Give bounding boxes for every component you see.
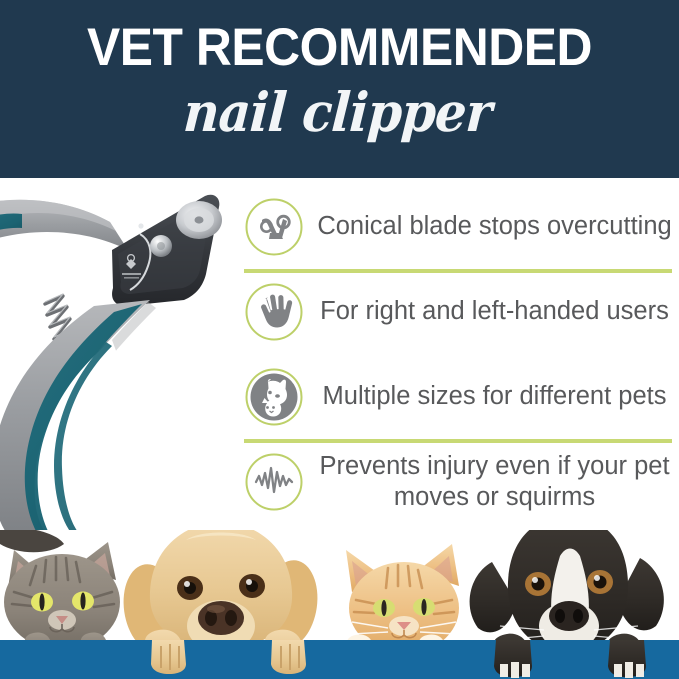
waveform-icon xyxy=(244,452,304,512)
feature-label: Prevents injury even if your pet moves o… xyxy=(316,451,679,513)
feature-row: For right and left-handed users xyxy=(238,269,679,354)
dog-and-cat-icon xyxy=(244,367,304,427)
product-image xyxy=(0,178,238,538)
feature-row: Multiple sizes for different pets xyxy=(238,354,679,439)
feature-row: Prevents injury even if your pet moves o… xyxy=(238,439,679,524)
conical-blade-disc xyxy=(176,201,222,239)
page-subtitle: nail clipper xyxy=(23,80,652,144)
conical-blade-icon xyxy=(244,197,304,257)
feature-row: Conical blade stops overcutting xyxy=(238,184,679,269)
lower-handle-loop xyxy=(0,300,156,538)
feature-label: For right and left-handed users xyxy=(316,296,679,327)
product-infographic: VET RECOMMENDED nail clipper xyxy=(0,0,679,679)
page-title: VET RECOMMENDED xyxy=(20,20,658,76)
pets-banner xyxy=(0,530,679,679)
feature-list: Conical blade stops overcutting For righ… xyxy=(238,184,679,534)
feature-label: Conical blade stops overcutting xyxy=(316,211,679,242)
hand-icon xyxy=(244,282,304,342)
header-banner: VET RECOMMENDED nail clipper xyxy=(0,0,679,178)
feature-label: Multiple sizes for different pets xyxy=(316,381,679,412)
blue-banner xyxy=(0,640,679,679)
